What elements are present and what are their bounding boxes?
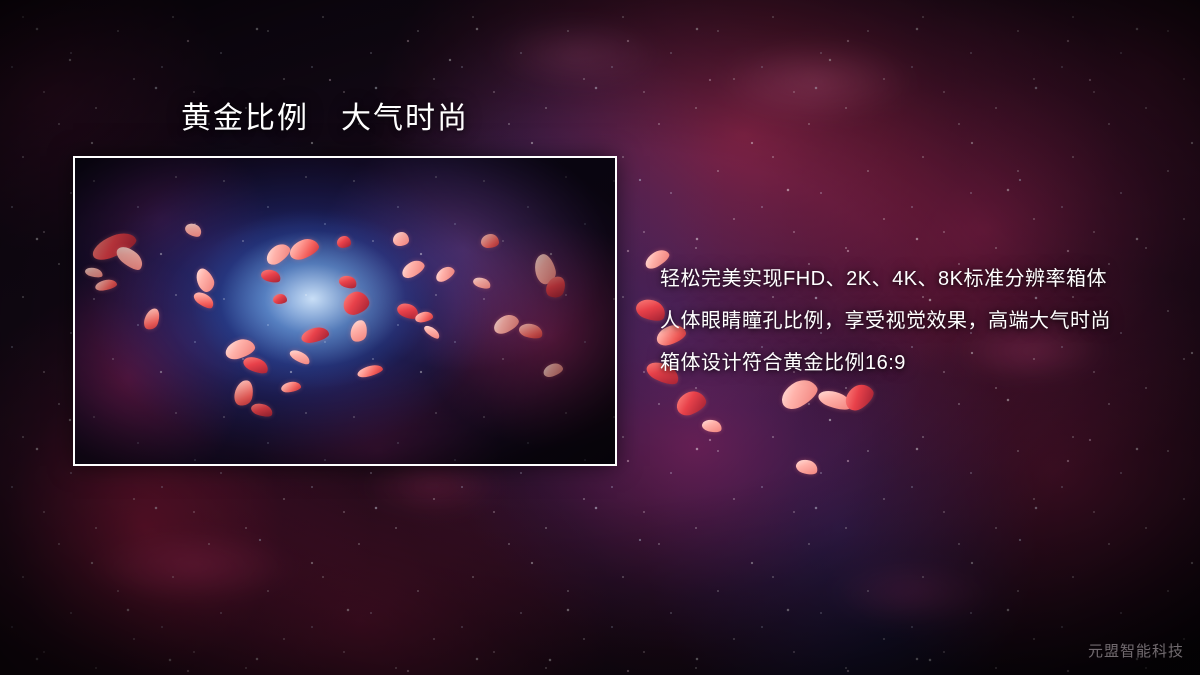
feature-line-2: 人体眼睛瞳孔比例，享受视觉效果，高端大气时尚 [660, 300, 1160, 342]
product-preview-frame[interactable] [73, 156, 617, 466]
feature-line-3: 箱体设计符合黄金比例16:9 [660, 342, 1160, 384]
company-watermark: 元盟智能科技 [1088, 640, 1184, 661]
feature-line-1: 轻松完美实现FHD、2K、4K、8K标准分辨率箱体 [660, 258, 1160, 300]
slide-title: 黄金比例 大气时尚 [181, 101, 469, 137]
feature-description-block: 轻松完美实现FHD、2K、4K、8K标准分辨率箱体 人体眼睛瞳孔比例，享受视觉效… [660, 258, 1160, 384]
presentation-slide: 黄金比例 大气时尚 轻松完美实现FHD、2K、4K、8K标准分辨率箱体 人体眼睛… [0, 0, 1200, 675]
preview-vignette [75, 158, 615, 464]
